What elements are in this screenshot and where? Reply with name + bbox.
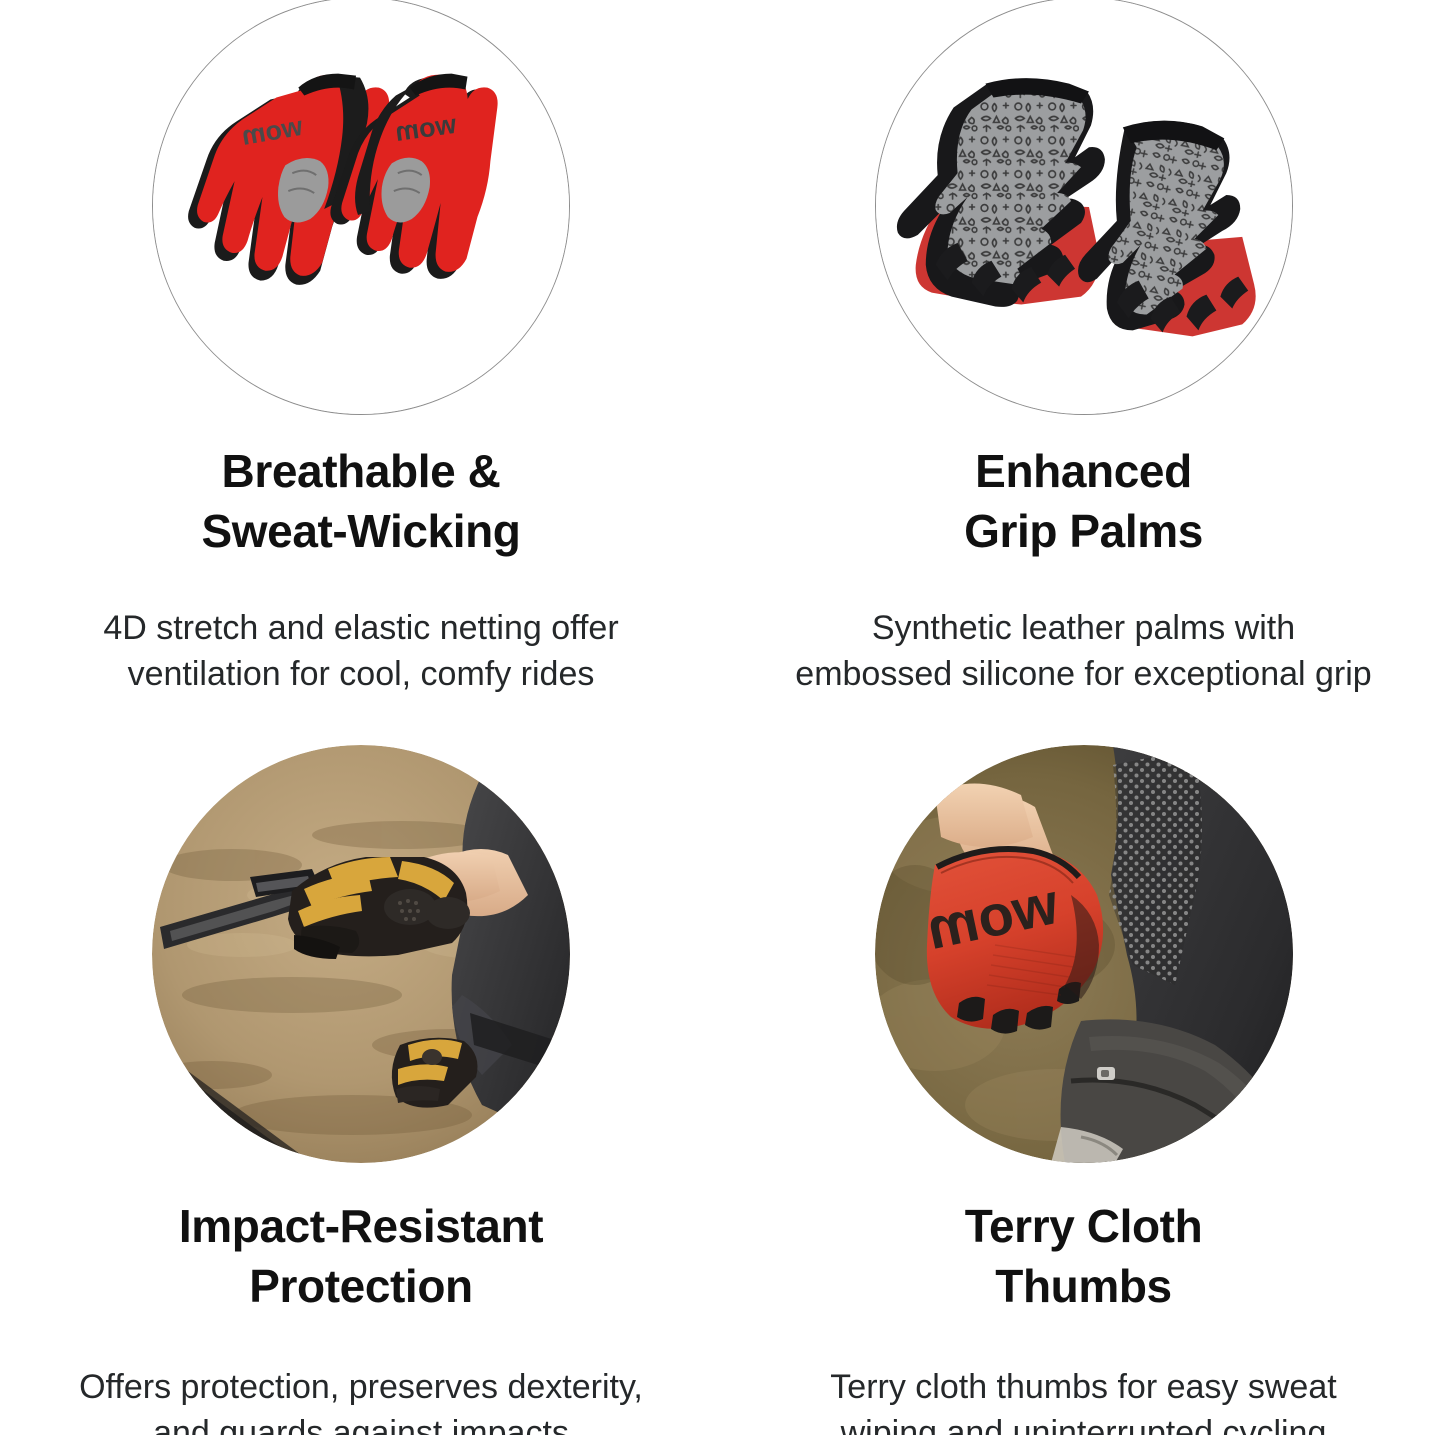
feature-description: Terry cloth thumbs for easy sweat wiping… <box>734 1364 1434 1435</box>
feature-title: Enhanced Grip Palms <box>964 441 1203 561</box>
feature-card-breathable-sweat-wicking: wom wom <box>0 0 722 718</box>
feature-title: Impact-Resistant Protection <box>179 1196 543 1316</box>
gray-grip-palms-image <box>875 0 1293 415</box>
feature-description: Offers protection, preserves dexterity, … <box>16 1364 706 1435</box>
feature-description: 4D stretch and elastic netting offer ven… <box>41 605 681 697</box>
red-glove-on-shorts-photo: wom <box>875 745 1293 1163</box>
red-cycling-gloves-image: wom wom <box>152 0 570 415</box>
feature-card-impact-resistant-protection: Impact-Resistant Protection Offers prote… <box>0 718 722 1435</box>
feature-grid: wom wom <box>0 0 1445 1435</box>
feature-card-enhanced-grip-palms: Enhanced Grip Palms Synthetic leather pa… <box>722 0 1445 718</box>
handlebar-grip-photo <box>152 745 570 1163</box>
feature-title: Breathable & Sweat-Wicking <box>201 441 520 561</box>
feature-description: Synthetic leather palms with embossed si… <box>722 605 1445 697</box>
feature-infographic: wom wom <box>0 0 1445 1435</box>
feature-card-terry-cloth-thumbs: wom Terry Cloth Thumbs Terry cloth thumb… <box>722 718 1445 1435</box>
feature-title: Terry Cloth Thumbs <box>965 1196 1203 1316</box>
